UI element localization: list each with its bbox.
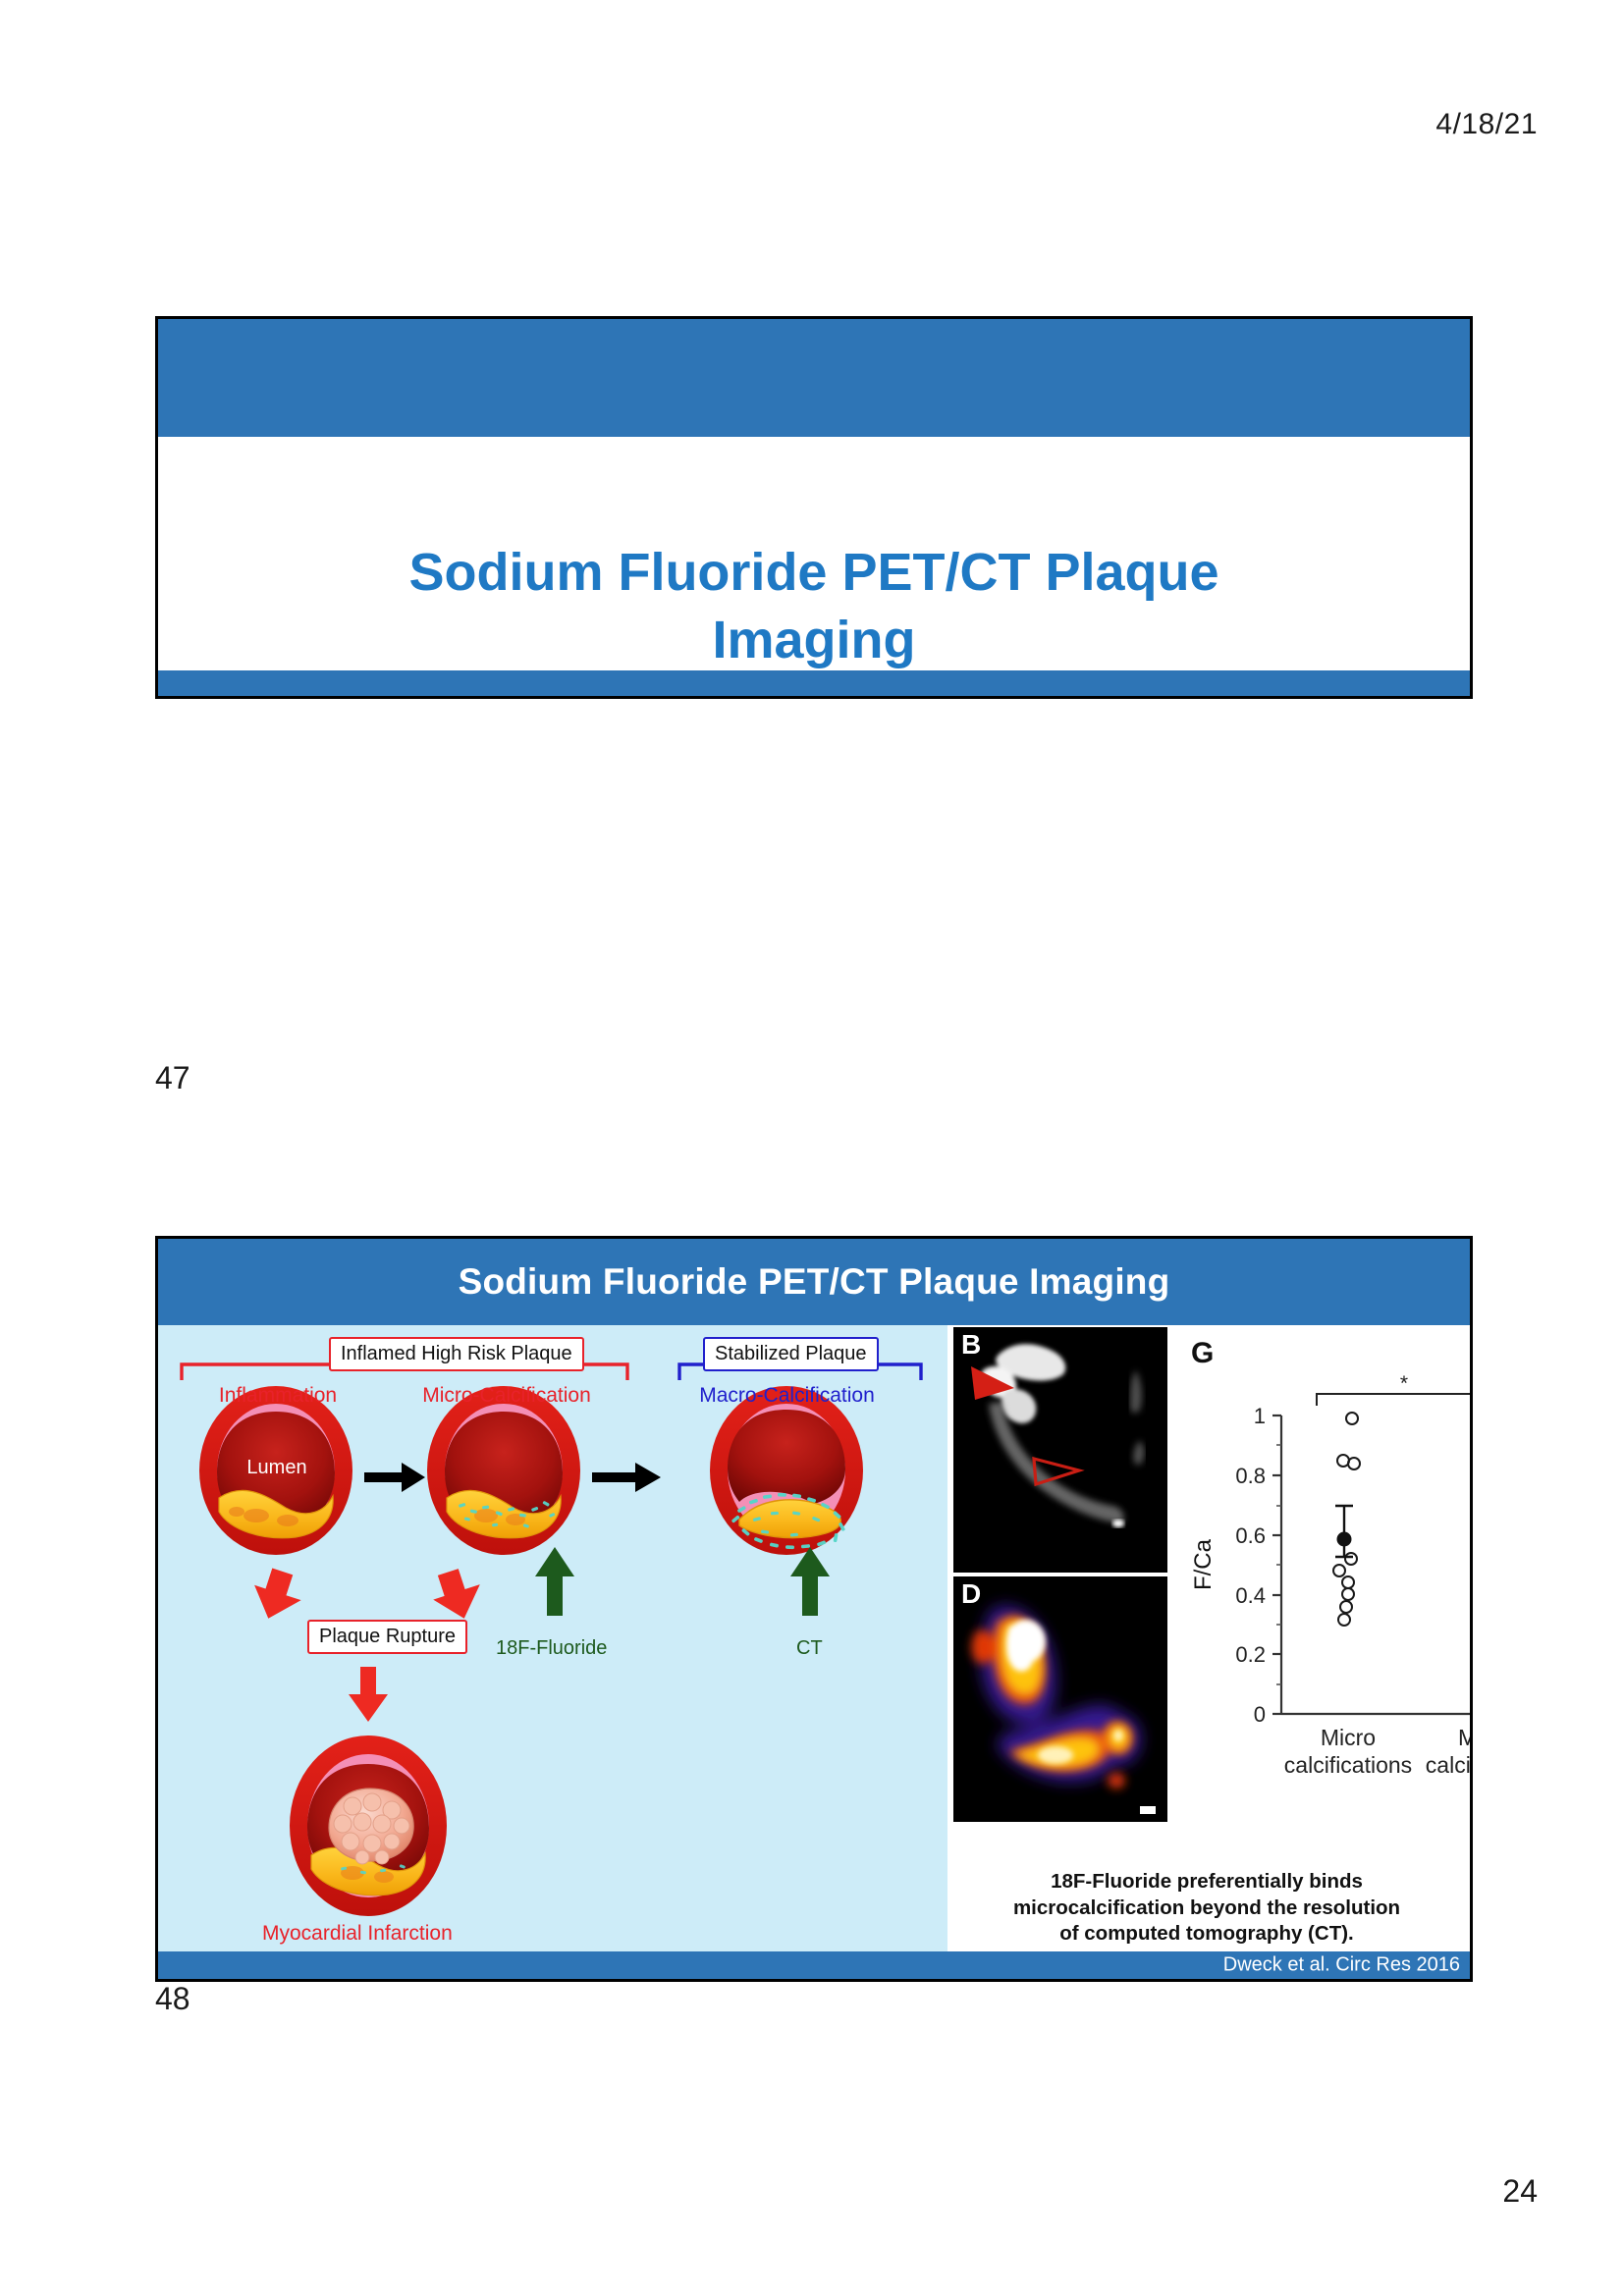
macro-points [1472,1518,1473,1654]
fca-scatter-svg: G * [1179,1329,1473,1826]
svg-text:calcifications: calcifications [1426,1752,1473,1778]
modality-arrows [535,1547,830,1616]
ct-image-svg [953,1327,1167,1573]
figure-credit: Dweck et al. Circ Res 2016 [1223,1954,1460,1977]
macro-mean-errorbar [1472,1589,1473,1616]
slide-48-footer-bar: Dweck et al. Circ Res 2016 [158,1951,1470,1979]
caption-line-1: 18F-Fluoride preferentially binds [947,1869,1466,1896]
stage-label-micro-calcification: Micro-Calcification [404,1384,610,1408]
x-tick-labels: Micro calcifications Macro calcification… [1284,1725,1473,1778]
slide-48-title: Sodium Fluoride PET/CT Plaque Imaging [459,1261,1170,1303]
label-18f-fluoride: 18F-Fluoride [496,1637,607,1660]
imaging-panel-group: B [947,1325,1470,1951]
significance-bracket [1317,1394,1473,1406]
pet-image-svg [953,1576,1167,1822]
panel-b-ct-image: B [953,1327,1167,1573]
svg-text:1: 1 [1254,1404,1266,1428]
slide-48[interactable]: Sodium Fluoride PET/CT Plaque Imaging [155,1236,1473,1982]
slide-number-48: 48 [155,1981,190,2017]
y-tick-labels: 1 0.8 0.6 0.4 0.2 0 [1235,1404,1266,1727]
slide-47-body: Sodium Fluoride PET/CT Plaque Imaging [158,437,1470,670]
slide-48-body: Inflamed High Risk Plaque Stabilized Pla… [158,1325,1470,1951]
slide-47[interactable]: Sodium Fluoride PET/CT Plaque Imaging [155,316,1473,699]
micro-mean-errorbar [1335,1506,1353,1557]
label-inflamed-high-risk-plaque: Inflamed High Risk Plaque [329,1337,584,1371]
artery-microcalcification [427,1386,580,1555]
progress-arrow-2 [592,1463,661,1492]
artery-macrocalcification [710,1386,863,1555]
panel-b-letter: B [961,1329,981,1361]
slide-47-title: Sodium Fluoride PET/CT Plaque Imaging [392,539,1236,674]
artery-myocardial-infarction [290,1735,447,1916]
y-axis-label: F/Ca [1190,1538,1217,1590]
panel-g-scatter-plot: G * [1179,1329,1473,1826]
label-stabilized-plaque: Stabilized Plaque [703,1337,879,1371]
label-plaque-rupture: Plaque Rupture [307,1620,467,1654]
svg-text:0.2: 0.2 [1235,1642,1266,1667]
svg-text:0.4: 0.4 [1235,1583,1266,1608]
svg-text:calcifications: calcifications [1284,1752,1412,1778]
document-date: 4/18/21 [1435,108,1538,141]
handout-page: 4/18/21 Sodium Fluoride PET/CT Plaque Im… [0,0,1624,2296]
slide-47-header-bar [158,319,1470,437]
document-page-number: 24 [1502,2173,1538,2210]
panel-d-letter: D [961,1578,981,1610]
svg-text:Micro: Micro [1321,1725,1376,1750]
figure-caption: 18F-Fluoride preferentially binds microc… [947,1869,1466,1948]
svg-text:0.8: 0.8 [1235,1464,1266,1488]
micro-points [1333,1413,1360,1626]
significance-asterisk: * [1400,1372,1408,1395]
label-ct: CT [796,1637,823,1660]
panel-g-letter: G [1191,1337,1214,1369]
plaque-progression-diagram: Inflamed High Risk Plaque Stabilized Pla… [158,1325,947,1951]
scale-bar [1140,1806,1156,1814]
progress-arrow-1 [364,1463,425,1492]
lumen-label: Lumen [233,1457,321,1479]
panel-d-pet-image: D [953,1576,1167,1822]
label-myocardial-infarction: Myocardial Infarction [262,1922,453,1946]
stage-label-inflammation: Inflammation [209,1384,347,1408]
micro-mean-marker [1337,1532,1352,1547]
thrombus [329,1789,413,1864]
svg-text:0: 0 [1254,1702,1266,1727]
svg-text:0.6: 0.6 [1235,1523,1266,1548]
caption-line-2: microcalcification beyond the resolution [947,1896,1466,1922]
stage-label-macro-calcification: Macro-Calcification [681,1384,893,1408]
slide-48-header-bar: Sodium Fluoride PET/CT Plaque Imaging [158,1239,1470,1325]
ct-arrow [790,1547,830,1616]
svg-text:Macro: Macro [1458,1725,1473,1750]
caption-line-3: of computed tomography (CT). [947,1921,1466,1948]
slide-number-47: 47 [155,1060,190,1096]
